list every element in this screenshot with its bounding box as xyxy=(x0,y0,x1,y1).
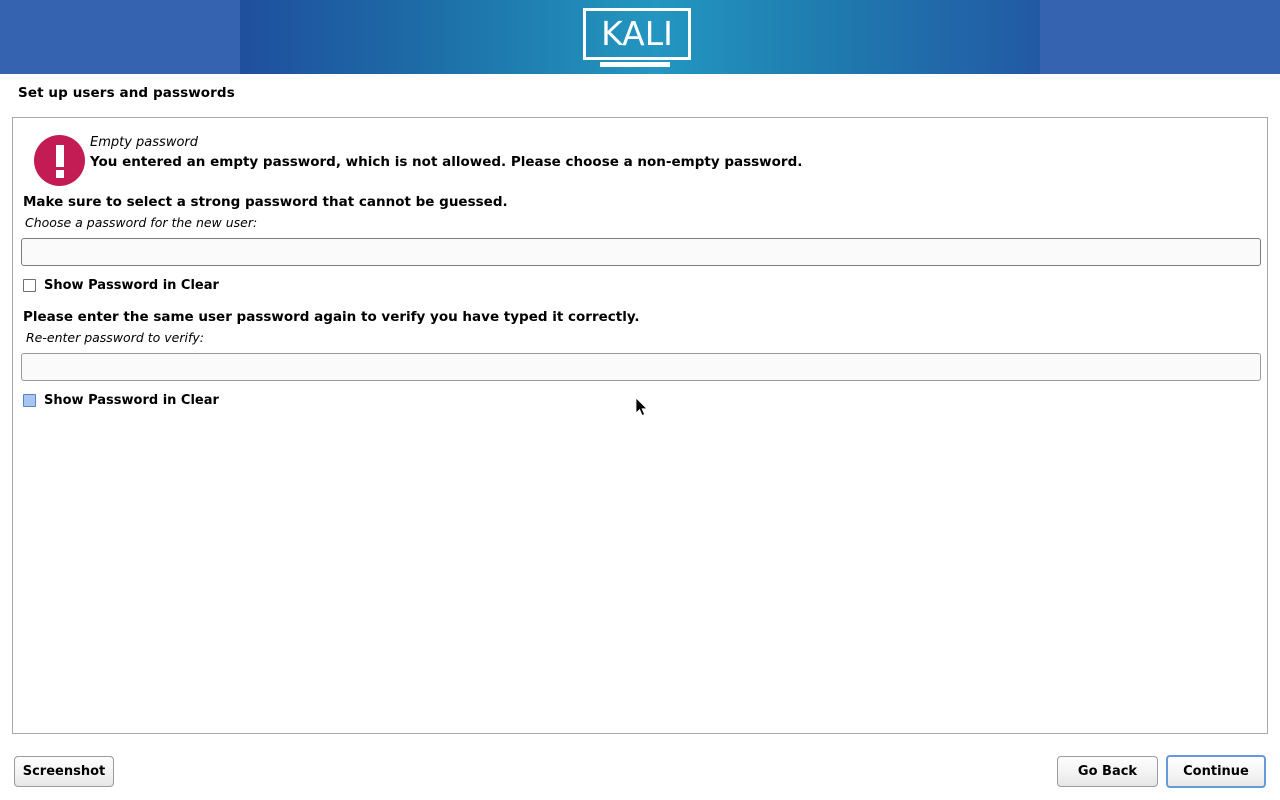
continue-button[interactable]: Continue xyxy=(1166,755,1266,788)
password-field-label: Choose a password for the new user: xyxy=(25,215,257,230)
show-password-checkbox-row-1[interactable]: Show Password in Clear xyxy=(23,276,219,294)
exclamation-dot xyxy=(56,170,64,178)
content-panel: Empty password You entered an empty pass… xyxy=(12,117,1268,734)
exclamation-bar xyxy=(56,145,64,167)
installer-screen: KALI Set up users and passwords Empty pa… xyxy=(0,0,1280,800)
kali-logo-underline xyxy=(600,62,670,67)
error-exclamation-icon xyxy=(34,135,85,186)
kali-banner: KALI xyxy=(0,0,1280,74)
page-title: Set up users and passwords xyxy=(18,85,235,101)
show-password-label-2: Show Password in Clear xyxy=(44,393,219,408)
show-password-checkbox-row-2[interactable]: Show Password in Clear xyxy=(23,391,219,409)
kali-logo: KALI xyxy=(583,8,697,66)
show-password-checkbox-2[interactable] xyxy=(23,394,36,407)
error-title: Empty password xyxy=(90,135,198,150)
verify-field-label: Re-enter password to verify: xyxy=(26,330,204,345)
show-password-checkbox-1[interactable] xyxy=(23,279,36,292)
verify-password-input[interactable] xyxy=(21,353,1261,381)
verify-password-hint: Please enter the same user password agai… xyxy=(23,309,640,325)
password-input[interactable] xyxy=(21,238,1261,266)
password-strength-hint: Make sure to select a strong password th… xyxy=(23,194,508,210)
error-message: You entered an empty password, which is … xyxy=(90,154,802,170)
go-back-button[interactable]: Go Back xyxy=(1057,756,1158,787)
kali-logo-text: KALI xyxy=(583,8,691,60)
screenshot-button[interactable]: Screenshot xyxy=(14,756,114,787)
show-password-label-1: Show Password in Clear xyxy=(44,278,219,293)
